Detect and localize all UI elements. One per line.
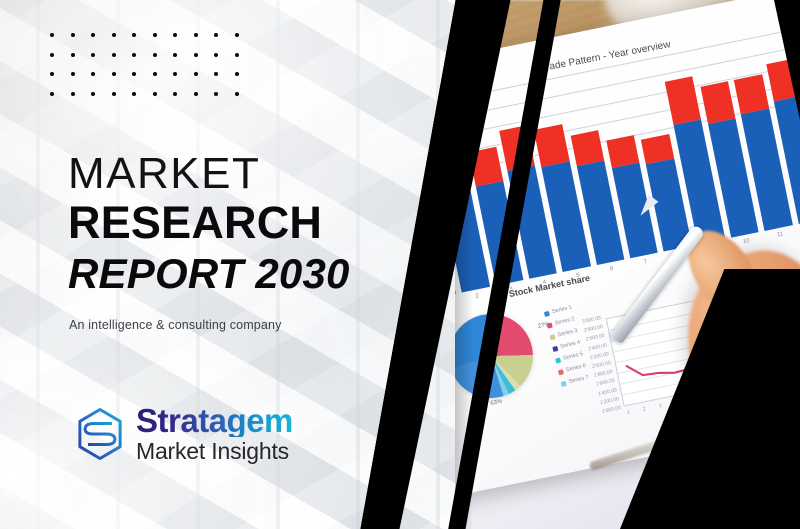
grid-dot: [132, 72, 136, 76]
dot-grid-decoration: [50, 33, 255, 111]
x-tick: 7: [631, 257, 660, 269]
grid-dot: [194, 72, 198, 76]
grid-dot: [91, 53, 95, 57]
grid-dot: [153, 72, 157, 76]
grid-dot: [194, 53, 198, 57]
x-tick: 2: [642, 406, 646, 412]
grid-dot: [50, 72, 54, 76]
grid-dot: [132, 33, 136, 37]
logo-wordmark: Stratagem: [136, 404, 293, 437]
grid-dot: [235, 53, 239, 57]
legend-label: Series 1: [551, 305, 572, 316]
grid-dot: [153, 53, 157, 57]
grid-dot: [194, 33, 198, 37]
grid-dot: [173, 53, 177, 57]
title-line-market: MARKET: [68, 152, 398, 197]
grid-dot: [50, 53, 54, 57]
grid-dot: [91, 72, 95, 76]
bar-chart-title: Trade Pattern - Year overview: [540, 39, 672, 74]
grid-dot: [50, 33, 54, 37]
grid-dot: [50, 92, 54, 96]
grid-dot: [112, 72, 116, 76]
report-cover: MARKET RESEARCH REPORT 2030 An intellige…: [0, 0, 800, 529]
grid-dot: [214, 53, 218, 57]
legend-item: Series 1: [544, 305, 573, 317]
grid-dot: [153, 33, 157, 37]
grid-dot: [71, 53, 75, 57]
x-tick: 11: [766, 229, 795, 241]
x-tick: 3: [658, 403, 662, 409]
grid-dot: [71, 33, 75, 37]
grid-dot: [112, 53, 116, 57]
grid-dot: [132, 53, 136, 57]
grid-dot: [91, 33, 95, 37]
grid-dot: [71, 92, 75, 96]
hexagon-s-logo-icon: [72, 406, 128, 462]
grid-dot: [153, 92, 157, 96]
x-tick: 2: [463, 291, 492, 303]
grid-dot: [71, 72, 75, 76]
grid-dot: [235, 72, 239, 76]
tagline: An intelligence & consulting company: [69, 318, 281, 332]
grid-dot: [112, 33, 116, 37]
grid-dot: [173, 92, 177, 96]
grid-dot: [235, 33, 239, 37]
grid-dot: [235, 92, 239, 96]
x-tick: 1: [455, 298, 458, 310]
stratagem-logo[interactable]: Stratagem Market Insights: [72, 404, 293, 463]
grid-dot: [112, 92, 116, 96]
title-line-research: RESEARCH: [68, 199, 398, 248]
grid-dot: [173, 72, 177, 76]
logo-subtitle: Market Insights: [136, 440, 293, 463]
logo-text: Stratagem Market Insights: [136, 404, 293, 463]
grid-dot: [132, 92, 136, 96]
grid-dot: [173, 33, 177, 37]
title-line-report: REPORT 2030: [68, 251, 398, 297]
grid-dot: [214, 92, 218, 96]
grid-dot: [214, 72, 218, 76]
x-tick: 6: [597, 263, 626, 275]
grid-dot: [194, 92, 198, 96]
grid-dot: [214, 33, 218, 37]
page-title: MARKET RESEARCH REPORT 2030: [68, 152, 398, 298]
pie-label: 63%: [490, 399, 503, 407]
grid-dot: [91, 92, 95, 96]
x-tick: 1: [626, 410, 630, 416]
